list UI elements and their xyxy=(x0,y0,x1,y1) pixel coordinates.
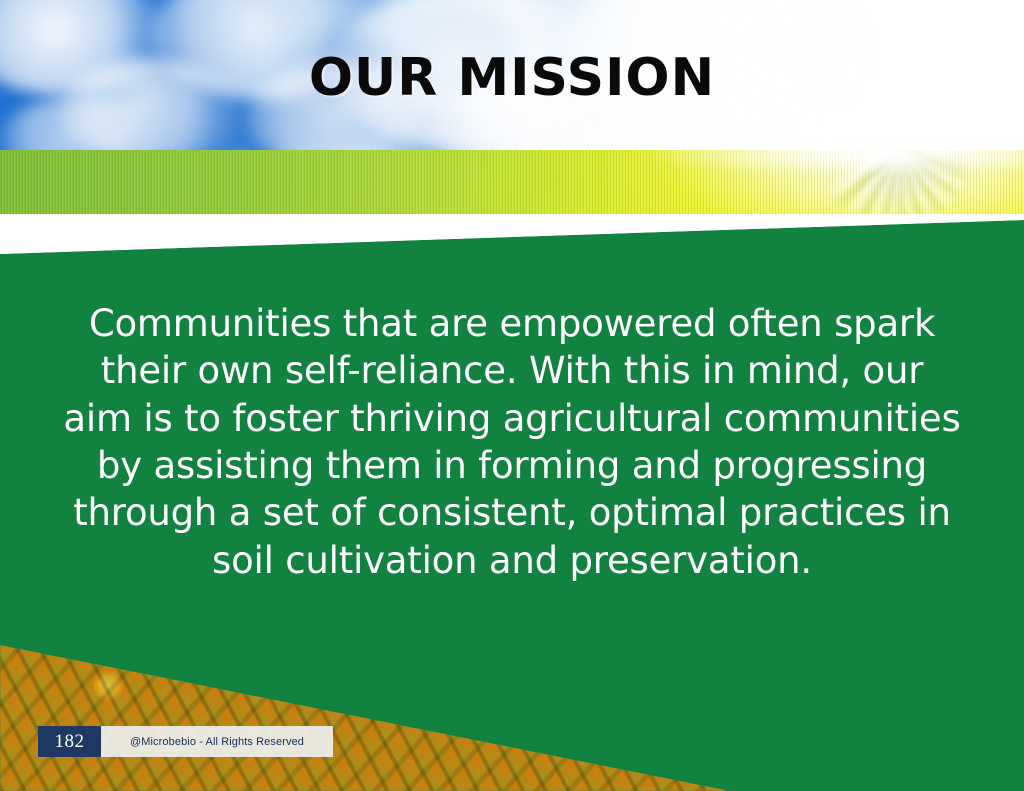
slide-root: OUR MISSION Communities that are empower… xyxy=(0,0,1024,791)
mission-line: Communities that are empowered often spa… xyxy=(52,300,972,347)
mission-line: through a set of consistent, optimal pra… xyxy=(52,489,972,536)
mission-line: by assisting them in forming and progres… xyxy=(52,442,972,489)
mission-statement: Communities that are empowered often spa… xyxy=(52,300,972,584)
page-title: OUR MISSION xyxy=(0,52,1024,104)
sun-glow xyxy=(520,140,1024,174)
mission-line: their own self-reliance. With this in mi… xyxy=(52,347,972,394)
mission-line: aim is to foster thriving agricultural c… xyxy=(52,395,972,442)
mission-line: soil cultivation and preservation. xyxy=(52,537,972,584)
footer: 182 @Microbebio - All Rights Reserved xyxy=(38,726,333,757)
page-number-badge: 182 xyxy=(38,726,101,757)
banner-image xyxy=(0,0,1024,222)
copyright-notice: @Microbebio - All Rights Reserved xyxy=(101,726,333,757)
